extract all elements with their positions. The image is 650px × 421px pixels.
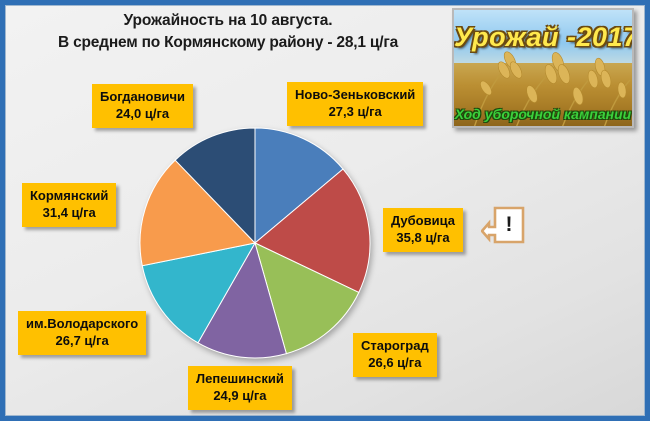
label-kormyansky-value: 31,4 ц/га bbox=[30, 205, 108, 222]
banner-title: Урожай -2017 bbox=[454, 22, 632, 53]
pie-chart bbox=[139, 127, 371, 359]
attention-callout[interactable]: ! bbox=[481, 203, 525, 247]
label-lepeshinsky-name: Лепешинский bbox=[196, 371, 284, 386]
label-dubovitsa-name: Дубовица bbox=[391, 213, 455, 228]
label-kormyansky-name: Кормянский bbox=[30, 188, 108, 203]
label-starograd-value: 26,6 ц/га bbox=[361, 355, 429, 372]
label-bogdanovichi-name: Богдановичи bbox=[100, 89, 185, 104]
label-bogdanovichi[interactable]: Богдановичи 24,0 ц/га bbox=[92, 84, 193, 128]
label-lepeshinsky-value: 24,9 ц/га bbox=[196, 388, 284, 405]
label-volodarsky[interactable]: им.Володарского 26,7 ц/га bbox=[18, 311, 146, 355]
pie-chart-svg bbox=[139, 127, 371, 359]
callout-text: ! bbox=[495, 206, 523, 244]
label-dubovitsa[interactable]: Дубовица 35,8 ц/га bbox=[383, 208, 463, 252]
label-starograd[interactable]: Староград 26,6 ц/га bbox=[353, 333, 437, 377]
title-line-1: Урожайность на 10 августа. bbox=[18, 10, 438, 32]
label-kormyansky[interactable]: Кормянский 31,4 ц/га bbox=[22, 183, 116, 227]
banner-subtitle: Ход уборочной кампании bbox=[454, 106, 632, 122]
label-dubovitsa-value: 35,8 ц/га bbox=[391, 230, 455, 247]
label-volodarsky-value: 26,7 ц/га bbox=[26, 333, 138, 350]
label-lepeshinsky[interactable]: Лепешинский 24,9 ц/га bbox=[188, 366, 292, 410]
label-novozenkovsky-name: Ново-Зеньковский bbox=[295, 87, 415, 102]
label-novozenkovsky[interactable]: Ново-Зеньковский 27,3 ц/га bbox=[287, 82, 423, 126]
label-volodarsky-name: им.Володарского bbox=[26, 316, 138, 331]
label-bogdanovichi-value: 24,0 ц/га bbox=[100, 106, 185, 123]
page-title: Урожайность на 10 августа. В среднем по … bbox=[18, 10, 438, 55]
label-starograd-name: Староград bbox=[361, 338, 429, 353]
label-novozenkovsky-value: 27,3 ц/га bbox=[295, 104, 415, 121]
slide-canvas: Урожайность на 10 августа. В среднем по … bbox=[0, 0, 650, 421]
harvest-2017-banner: Урожай -2017 Ход уборочной кампании bbox=[452, 8, 634, 128]
title-line-2: В среднем по Кормянскому району - 28,1 ц… bbox=[18, 32, 438, 54]
